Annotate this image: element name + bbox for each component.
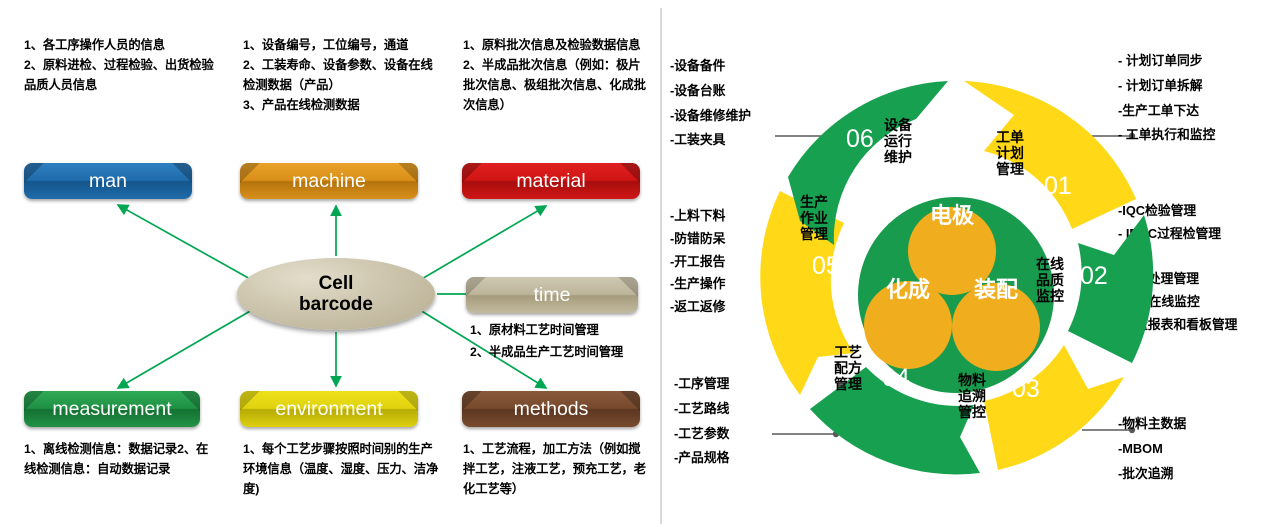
- list-item: -产品规格: [674, 452, 729, 465]
- list-item: -设备台账: [670, 85, 751, 98]
- node-measurement[interactable]: measurement: [24, 391, 200, 427]
- list-item: -设备维修维护: [670, 110, 751, 123]
- node-material-label: material: [516, 170, 585, 193]
- list-equipment-maintenance: -设备备件 -设备台账 -设备维修维护 -工装夹具: [670, 60, 751, 159]
- list-item: -工艺参数: [674, 428, 729, 441]
- wheel-label-01: 工单 计划 管理: [996, 129, 1024, 177]
- note-man: 1、各工序操作人员的信息2、原料进检、过程检验、出货检验品质人员信息: [24, 36, 220, 96]
- list-item: -防错防呆: [670, 233, 725, 246]
- node-man[interactable]: man: [24, 163, 192, 199]
- wheel-num-03: 03: [1012, 375, 1040, 404]
- wheel-num-01: 01: [1044, 172, 1072, 201]
- mes-module-wheel-diagram: -设备备件 -设备台账 -设备维修维护 -工装夹具 -上料下料 -防错防呆 -开…: [662, 0, 1287, 532]
- wheel-num-05: 05: [812, 252, 840, 281]
- note-machine: 1、设备编号，工位编号，通道2、工装寿命、设备参数、设备在线检测数据（产品）3、…: [243, 36, 439, 116]
- node-time-label: time: [534, 284, 571, 307]
- node-environment-label: environment: [275, 398, 382, 421]
- note-environment: 1、每个工艺步骤按照时间别的生产环境信息（温度、湿度、压力、洁净度): [243, 440, 439, 500]
- wheel-num-04: 04: [882, 364, 910, 393]
- list-process-recipe: -工序管理 -工艺路线 -工艺参数 -产品规格: [674, 378, 729, 477]
- wheel-label-03: 物料 追溯 管控: [958, 372, 986, 420]
- node-machine[interactable]: machine: [240, 163, 418, 199]
- list-item: -设备备件: [670, 60, 751, 73]
- list-item: -上料下料: [670, 210, 725, 223]
- note-material: 1、原料批次信息及检验数据信息2、半成品批次信息（例如：极片批次信息、极组批次信…: [463, 36, 649, 116]
- man-machine-material-diagram: 1、各工序操作人员的信息2、原料进检、过程检验、出货检验品质人员信息 1、设备编…: [0, 0, 662, 532]
- module-wheel: 设备 运行 维护 06 工单 计划 管理 01 在线 品质 监控 02 物料 追…: [756, 72, 1156, 482]
- list-item: -工序管理: [674, 378, 729, 391]
- core-bubble-label-1: 电极: [930, 204, 974, 227]
- hub-cell-barcode[interactable]: Cell barcode: [237, 258, 435, 330]
- node-methods-label: methods: [514, 398, 589, 421]
- node-machine-label: machine: [292, 170, 366, 193]
- wheel-num-02: 02: [1080, 262, 1108, 291]
- wheel-label-04: 工艺 配方 管理: [834, 344, 862, 392]
- note-measurement: 1、离线检测信息：数据记录2、在线检测信息：自动数据记录: [24, 440, 220, 480]
- node-methods[interactable]: methods: [462, 391, 640, 427]
- core-bubble-label-2: 化成: [886, 278, 930, 301]
- node-environment[interactable]: environment: [240, 391, 418, 427]
- wheel-label-02: 在线 品质 监控: [1036, 256, 1064, 304]
- list-production-operation: -上料下料 -防错防呆 -开工报告 -生产操作 -返工返修: [670, 210, 725, 324]
- wheel-label-05: 生产 作业 管理: [800, 194, 828, 242]
- node-man-label: man: [89, 170, 127, 193]
- wheel-num-06: 06: [846, 125, 874, 154]
- list-item: -返工返修: [670, 301, 725, 314]
- node-measurement-label: measurement: [52, 398, 171, 421]
- wheel-label-06: 设备 运行 维护: [884, 117, 912, 165]
- list-item: -工装夹具: [670, 134, 751, 147]
- list-item: -生产操作: [670, 278, 725, 291]
- list-item: -工艺路线: [674, 403, 729, 416]
- note-time: 1、原材料工艺时间管理2、半成品生产工艺时间管理: [470, 320, 650, 363]
- node-time[interactable]: time: [466, 277, 638, 313]
- core-bubble-label-3: 装配: [974, 278, 1018, 301]
- note-methods: 1、工艺流程，加工方法（例如搅拌工艺，注液工艺，预充工艺，老化工艺等）: [463, 440, 649, 500]
- hub-label: Cell barcode: [299, 273, 373, 316]
- list-item: - 计划订单同步: [1118, 55, 1215, 68]
- list-item: -开工报告: [670, 256, 725, 269]
- node-material[interactable]: material: [462, 163, 640, 199]
